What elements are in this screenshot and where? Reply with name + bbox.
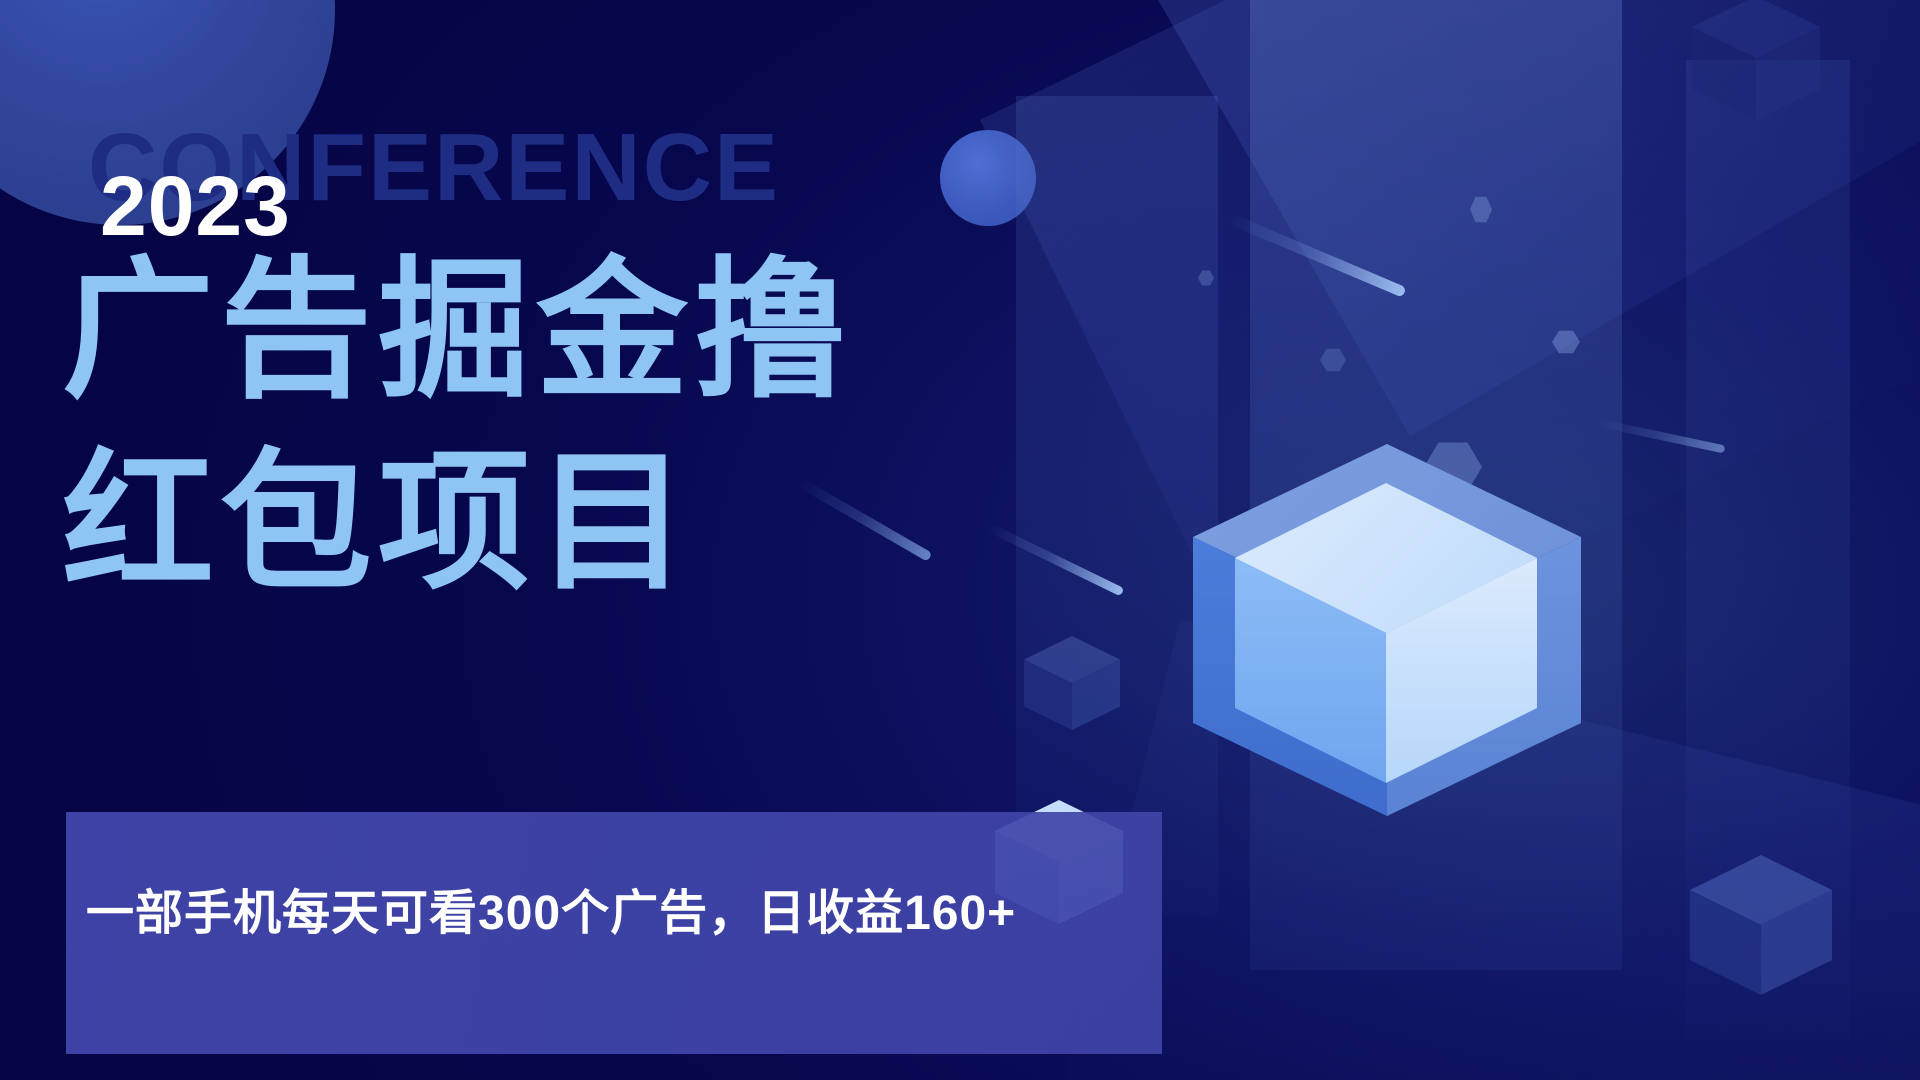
poster-content: CONFERENCE 2023 广告掘金撸 红包项目 一部手机每天可看300个广… xyxy=(0,0,1920,1080)
subtitle-text: 一部手机每天可看300个广告，日收益160+ xyxy=(86,880,1106,948)
promo-poster: CONFERENCE 2023 广告掘金撸 红包项目 一部手机每天可看300个广… xyxy=(0,0,1920,1080)
headline-line-1: 广告掘金撸 xyxy=(62,236,852,428)
headline-title: 广告掘金撸 红包项目 xyxy=(62,236,852,619)
headline-line-2: 红包项目 xyxy=(62,428,852,620)
